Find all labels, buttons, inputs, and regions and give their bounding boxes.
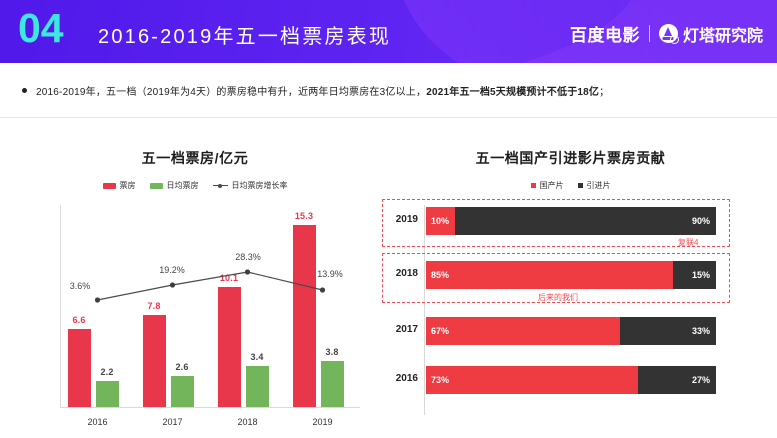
legend-item-daily-boxoffice[interactable]: 日均票房 [150, 180, 199, 191]
annotation-2018: 后来的我们 [538, 292, 578, 303]
legend-line-marker-icon [213, 185, 228, 186]
x-axis-tick-label: 2016 [60, 417, 135, 427]
line-point [320, 287, 325, 292]
combo-chart-plot: 6.6 2.2 2016 7.8 2.6 2017 10.1 3.4 2018 [20, 199, 370, 429]
segment-domestic[interactable]: 10% [426, 207, 455, 235]
stacked-chart-panel: 五一档国产引进影片票房贡献 国产片 引进片 2019 10% 90% [378, 130, 763, 430]
segment-value-label: 73% [431, 375, 449, 385]
growth-rate-label: 13.9% [317, 269, 343, 279]
legend-item-domestic[interactable]: 国产片 [531, 180, 564, 191]
row-category-label: 2019 [378, 214, 418, 225]
section-number: 04 [18, 8, 64, 49]
header-divider [0, 117, 777, 118]
combo-chart-panel: 五一档票房/亿元 票房 日均票房 日均票房增长率 6.6 2.2 2016 [20, 130, 370, 430]
summary-text-tail: ； [599, 87, 609, 98]
legend-label: 引进片 [587, 180, 611, 191]
stacked-chart-plot: 2019 10% 90% 复联4 2018 85% 15% [378, 205, 763, 420]
legend-swatch-icon [103, 183, 116, 189]
growth-rate-label: 28.3% [235, 252, 261, 262]
page-title: 2016-2019年五一档票房表现 [98, 20, 391, 49]
segment-value-label: 27% [692, 375, 710, 385]
segment-value-label: 10% [431, 216, 449, 226]
legend-label: 国产片 [540, 180, 564, 191]
legend-label: 日均票房 [167, 180, 199, 191]
growth-rate-label: 19.2% [159, 265, 185, 275]
brand-divider [649, 25, 650, 42]
x-axis-tick-label: 2018 [210, 417, 285, 427]
line-point [245, 269, 250, 274]
summary-bullet-row: 2016-2019年，五一档（2019年为4天）的票房稳中有升，近两年日均票房在… [0, 63, 777, 117]
page-header: 04 2016-2019年五一档票房表现 百度电影 灯塔研究院 [0, 0, 777, 63]
line-point [170, 282, 175, 287]
legend-item-imported[interactable]: 引进片 [578, 180, 611, 191]
table-row: 2016 73% 27% [378, 366, 763, 396]
segment-domestic[interactable]: 73% [426, 366, 638, 394]
legend-swatch-icon [150, 183, 163, 189]
table-row: 2017 67% 33% [378, 317, 763, 347]
summary-text-bold: 2021年五一档5天规模预计不低于18亿 [426, 87, 599, 98]
growth-rate-line [60, 205, 360, 407]
row-category-label: 2016 [378, 373, 418, 384]
segment-value-label: 33% [692, 326, 710, 336]
segment-value-label: 85% [431, 270, 449, 280]
stacked-chart-legend: 国产片 引进片 [378, 180, 763, 191]
summary-text-plain: 2016-2019年，五一档（2019年为4天）的票房稳中有升，近两年日均票房在… [36, 87, 426, 98]
stacked-chart-title: 五一档国产引进影片票房贡献 [378, 148, 763, 168]
segment-imported[interactable]: 15% [673, 261, 717, 289]
brand-secondary-label: 灯塔研究院 [683, 22, 763, 46]
x-axis-tick-label: 2019 [285, 417, 360, 427]
segment-imported[interactable]: 27% [638, 366, 716, 394]
stacked-bar: 85% 15% [426, 261, 716, 289]
legend-swatch-icon [578, 183, 583, 188]
segment-imported[interactable]: 33% [620, 317, 716, 345]
bullet-dot-icon [22, 88, 27, 93]
segment-value-label: 15% [692, 270, 710, 280]
combo-chart-legend: 票房 日均票房 日均票房增长率 [20, 180, 370, 191]
segment-value-label: 67% [431, 326, 449, 336]
row-category-label: 2017 [378, 324, 418, 335]
stacked-bar: 10% 90% [426, 207, 716, 235]
segment-value-label: 90% [692, 216, 710, 226]
segment-domestic[interactable]: 85% [426, 261, 673, 289]
brand-bar: 百度电影 灯塔研究院 [570, 21, 763, 46]
x-axis-tick-label: 2017 [135, 417, 210, 427]
lighthouse-magnifier-icon [659, 24, 678, 43]
combo-chart-title: 五一档票房/亿元 [20, 148, 370, 168]
legend-item-growth-rate[interactable]: 日均票房增长率 [213, 180, 288, 191]
summary-text: 2016-2019年，五一档（2019年为4天）的票房稳中有升，近两年日均票房在… [36, 83, 609, 98]
legend-label: 票房 [120, 180, 136, 191]
magnifier-lens-shape [670, 35, 679, 44]
legend-label: 日均票房增长率 [232, 180, 288, 191]
x-axis-line [60, 407, 360, 408]
table-row: 2018 85% 15% [378, 261, 763, 291]
segment-domestic[interactable]: 67% [426, 317, 620, 345]
legend-item-boxoffice[interactable]: 票房 [103, 180, 136, 191]
legend-swatch-icon [531, 183, 536, 188]
stacked-bar: 67% 33% [426, 317, 716, 345]
brand-baidu-label: 百度电影 [570, 21, 640, 46]
brand-secondary-group: 灯塔研究院 [659, 22, 763, 46]
segment-imported[interactable]: 90% [455, 207, 716, 235]
row-category-label: 2018 [378, 268, 418, 279]
stacked-bar: 73% 27% [426, 366, 716, 394]
table-row: 2019 10% 90% [378, 207, 763, 237]
growth-rate-label: 3.6% [70, 281, 91, 291]
annotation-2019: 复联4 [678, 237, 698, 248]
line-point [95, 297, 100, 302]
